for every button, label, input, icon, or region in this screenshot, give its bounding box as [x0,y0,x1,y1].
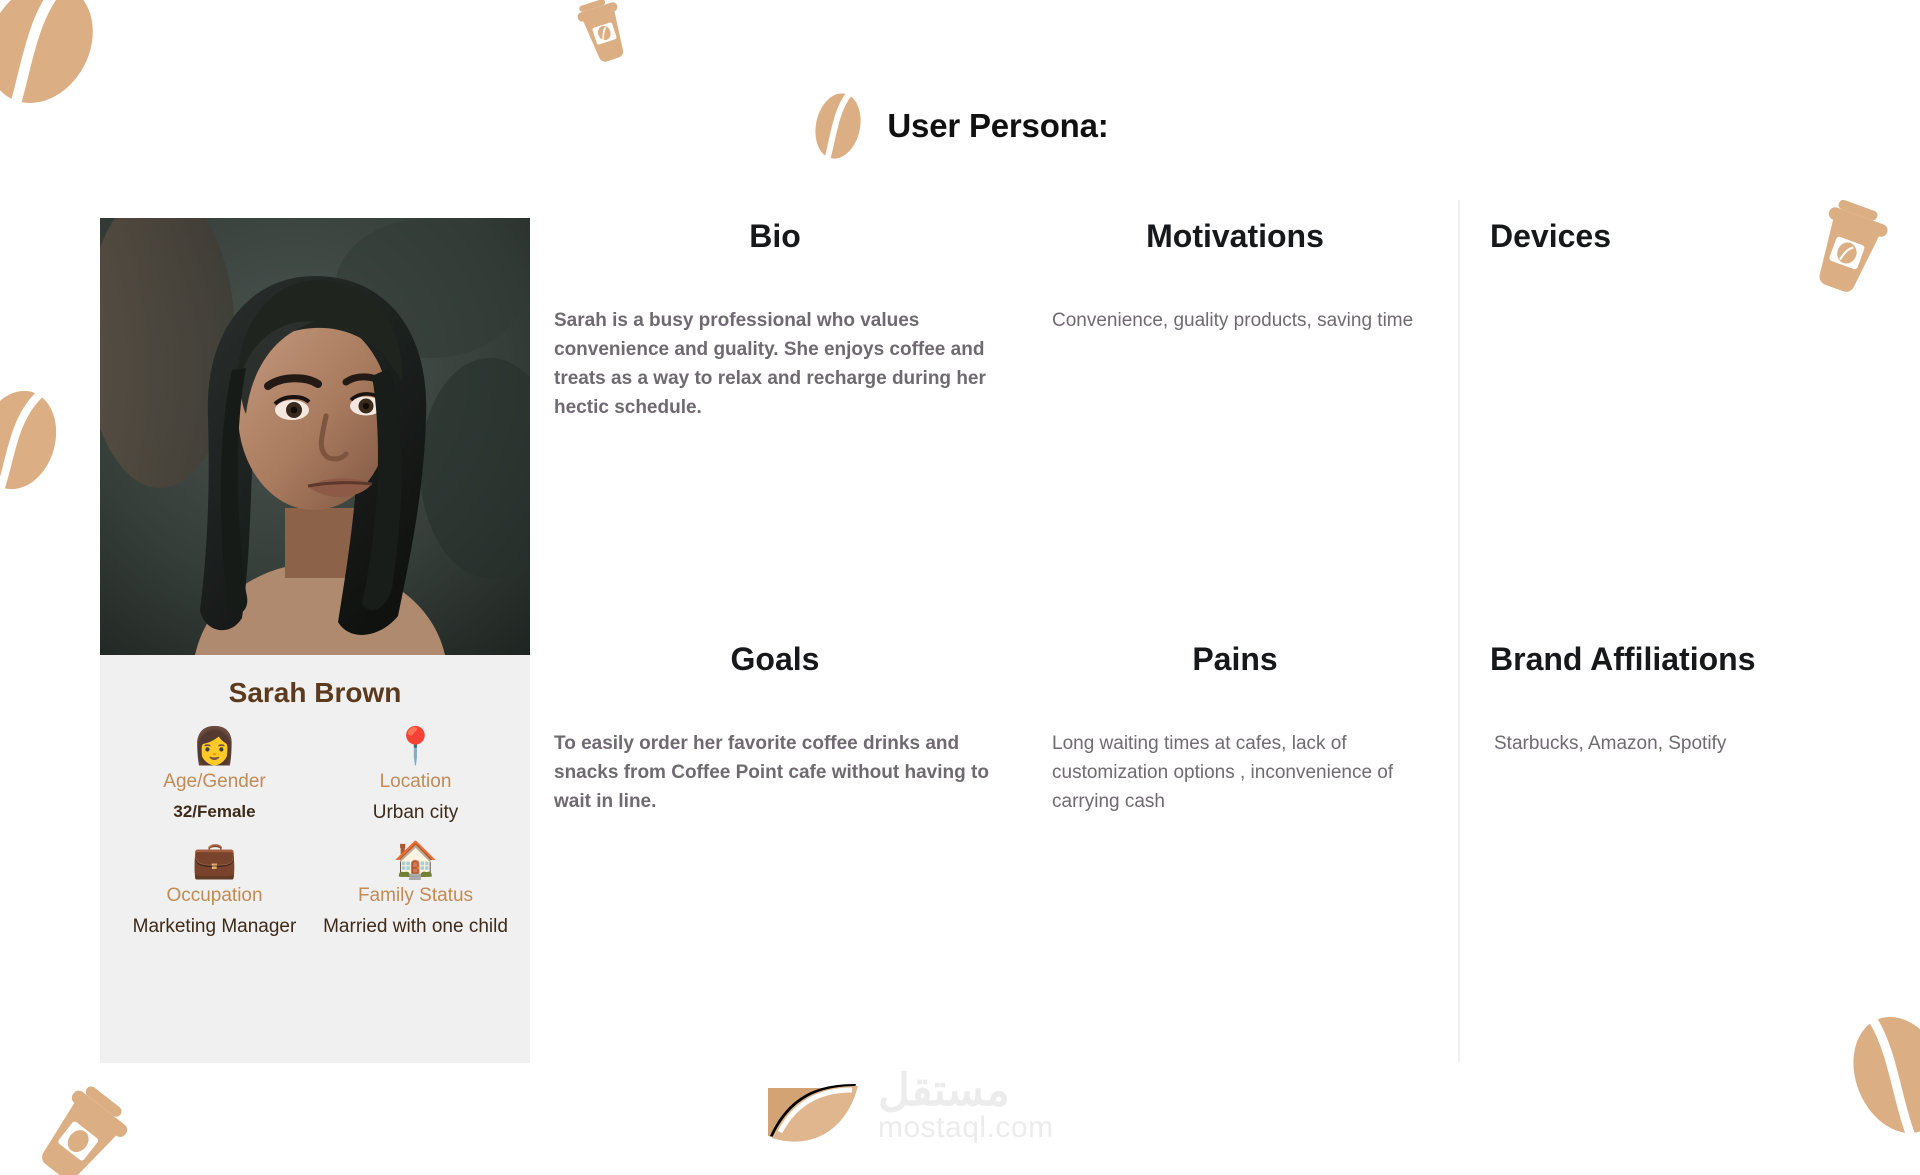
page-title: User Persona: [887,107,1108,145]
watermark-text: مستقل mostaql.com [878,1070,1054,1146]
section-brand-affiliations: Brand Affiliations Starbucks, Amazon, Sp… [1490,641,1832,759]
section-devices: Devices [1490,218,1832,641]
attribute-value: Marketing Manager [118,915,311,939]
coffee-cup-bottom-left [26,1086,136,1175]
section-title: Devices [1490,218,1832,255]
mostaql-leaf-logo [760,1058,870,1158]
house-icon: 🏠 [319,837,512,883]
column-motivations-pains: Motivations Convenience, guality product… [1020,218,1450,1063]
attribute-label: Family Status [319,885,512,907]
profile-name: Sarah Brown [114,677,516,709]
column-devices-brands: Devices Brand Affiliations Starbucks, Am… [1450,218,1850,1063]
watermark-latin: mostaql.com [878,1111,1054,1145]
section-pains: Pains Long waiting times at cafes, lack … [1038,641,1432,817]
column-bio-goals: Bio Sarah is a busy professional who val… [530,218,1020,1063]
avatar-photo [100,218,530,655]
coffee-cup-top-center [573,0,635,66]
section-title: Motivations [1038,218,1432,255]
coffee-bean-left-middle [0,378,62,498]
persona-board: Sarah Brown 👩 Age/Gender 32/Female 📍 Loc… [100,218,1850,1063]
coffee-bean-bottom-right [1840,1000,1920,1150]
profile-card: Sarah Brown 👩 Age/Gender 32/Female 📍 Loc… [100,218,530,1063]
location-pin-icon: 📍 [319,723,512,769]
section-body: To easily order her favorite coffee drin… [548,730,1002,817]
attribute-value: 32/Female [118,801,311,823]
section-bio: Bio Sarah is a busy professional who val… [548,218,1002,641]
attribute-value: Married with one child [319,915,512,939]
coffee-bean-icon [811,90,865,162]
attribute-label: Age/Gender [118,771,311,793]
face-icon: 👩 [118,723,311,769]
section-title: Bio [548,218,1002,255]
attribute-grid: 👩 Age/Gender 32/Female 📍 Location Urban … [114,723,516,940]
page-header: User Persona: [0,90,1920,162]
persona-poster: User Persona: [0,0,1920,1175]
watermark-arabic: مستقل [878,1070,1010,1112]
attribute-occupation: 💼 Occupation Marketing Manager [114,837,315,939]
attribute-label: Location [319,771,512,793]
section-goals: Goals To easily order her favorite coffe… [548,641,1002,817]
briefcase-icon: 💼 [118,837,311,883]
section-body: Long waiting times at cafes, lack of cus… [1038,730,1432,817]
section-body: Sarah is a busy professional who values … [548,307,1002,423]
attribute-family-status: 🏠 Family Status Married with one child [315,837,516,939]
section-title: Goals [548,641,1002,678]
section-motivations: Motivations Convenience, guality product… [1038,218,1432,641]
section-title: Pains [1038,641,1432,678]
watermark: مستقل mostaql.com [760,1055,1090,1160]
attribute-value: Urban city [319,801,512,825]
section-body: Starbucks, Amazon, Spotify [1490,730,1832,759]
content-columns: Bio Sarah is a busy professional who val… [530,218,1850,1063]
attribute-age-gender: 👩 Age/Gender 32/Female [114,723,315,825]
attribute-location: 📍 Location Urban city [315,723,516,825]
attribute-label: Occupation [118,885,311,907]
profile-details: Sarah Brown 👩 Age/Gender 32/Female 📍 Loc… [100,655,530,1063]
section-body: Convenience, guality products, saving ti… [1038,307,1432,336]
section-title: Brand Affiliations [1490,641,1832,678]
